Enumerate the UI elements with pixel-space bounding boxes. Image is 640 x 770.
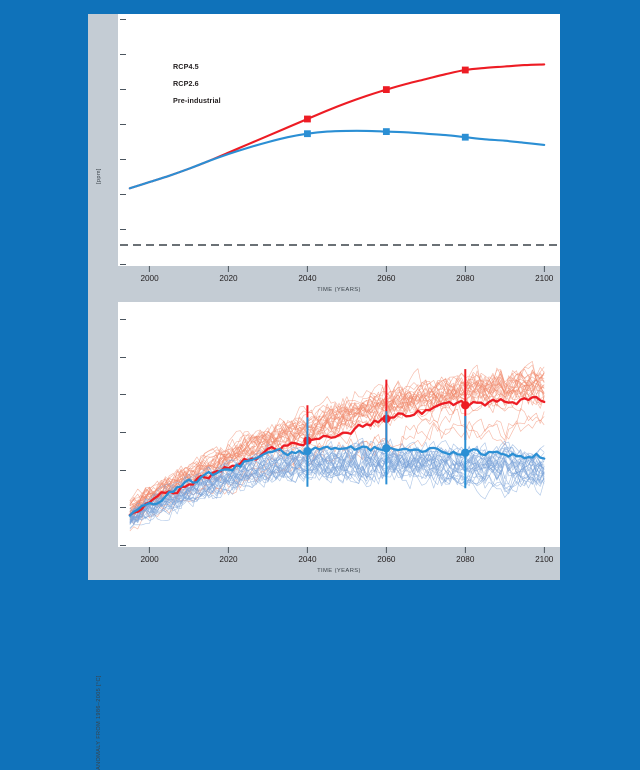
x-tick-label: 2060 <box>377 547 395 564</box>
x-tick-text: 2000 <box>140 274 158 283</box>
series-line-RCP2.6 <box>130 131 544 188</box>
x-tick-mark <box>544 547 545 553</box>
warming-series-svg <box>118 302 560 547</box>
co2-panel: Atmospheric CO₂ concentration [ppm] 2503… <box>88 14 560 292</box>
ensemble-member <box>130 451 544 529</box>
legend-label-preindustrial: Pre-industrial <box>173 96 221 105</box>
x-tick-text: 2080 <box>456 555 474 564</box>
warming-x-axis: TIME (YEARS) 200020202040206020802100 <box>118 547 560 577</box>
legend-label-rcp26: RCP2.6 <box>173 79 199 88</box>
data-marker <box>304 130 311 137</box>
legend-item-rcp45: RCP4.5 <box>128 58 221 75</box>
x-tick-label: 2100 <box>535 547 553 564</box>
x-tick-text: 2020 <box>219 274 237 283</box>
warming-y-axis-label: ANOMALY FROM 1986–2005 [°C] <box>96 675 102 770</box>
data-marker <box>462 134 469 141</box>
x-tick-text: 2020 <box>219 555 237 564</box>
x-tick-label: 2020 <box>219 266 237 283</box>
x-tick-label: 2040 <box>298 547 316 564</box>
co2-plot-area: 250300350400450500550600 <box>118 14 560 266</box>
x-tick-mark <box>544 266 545 272</box>
x-tick-text: 2040 <box>298 555 316 564</box>
data-marker <box>303 447 311 455</box>
x-tick-mark <box>307 547 308 553</box>
x-tick-label: 2000 <box>140 547 158 564</box>
x-tick-label: 2080 <box>456 266 474 283</box>
x-tick-mark <box>386 547 387 553</box>
co2-y-axis-label: [ppm] <box>96 168 102 184</box>
data-marker <box>462 67 469 74</box>
figure: Atmospheric CO₂ concentration [ppm] 2503… <box>88 14 560 580</box>
data-marker <box>382 444 390 452</box>
x-tick-mark <box>465 547 466 553</box>
x-tick-text: 2080 <box>456 274 474 283</box>
x-tick-text: 2040 <box>298 274 316 283</box>
x-tick-label: 2000 <box>140 266 158 283</box>
data-marker <box>383 128 390 135</box>
x-tick-mark <box>228 266 229 272</box>
x-tick-label: 2060 <box>377 266 395 283</box>
legend-label-rcp45: RCP4.5 <box>173 62 199 71</box>
x-tick-label: 2080 <box>456 547 474 564</box>
x-tick-mark <box>465 266 466 272</box>
x-tick-mark <box>307 266 308 272</box>
x-tick-mark <box>149 266 150 272</box>
data-marker <box>461 449 469 457</box>
data-marker <box>461 401 469 409</box>
warming-x-axis-label: TIME (YEARS) <box>118 568 560 574</box>
x-tick-text: 2060 <box>377 274 395 283</box>
x-tick-text: 2100 <box>535 274 553 283</box>
x-tick-text: 2000 <box>140 555 158 564</box>
x-tick-label: 2100 <box>535 266 553 283</box>
x-tick-label: 2040 <box>298 266 316 283</box>
co2-series-svg <box>118 14 560 266</box>
legend: RCP4.5 RCP2.6 Pre-industrial <box>128 58 221 109</box>
data-marker <box>304 116 311 123</box>
x-tick-text: 2100 <box>535 555 553 564</box>
x-tick-mark <box>149 547 150 553</box>
x-tick-mark <box>386 266 387 272</box>
legend-item-rcp26: RCP2.6 <box>128 75 221 92</box>
warming-plot-area: −0.50.00.51.01.52.02.5 <box>118 302 560 547</box>
x-tick-label: 2020 <box>219 547 237 564</box>
legend-item-preindustrial: Pre-industrial <box>128 92 221 109</box>
x-tick-text: 2060 <box>377 555 395 564</box>
x-tick-mark <box>228 547 229 553</box>
data-marker <box>383 86 390 93</box>
warming-panel: Global near-surface warming ANOMALY FROM… <box>88 292 560 580</box>
